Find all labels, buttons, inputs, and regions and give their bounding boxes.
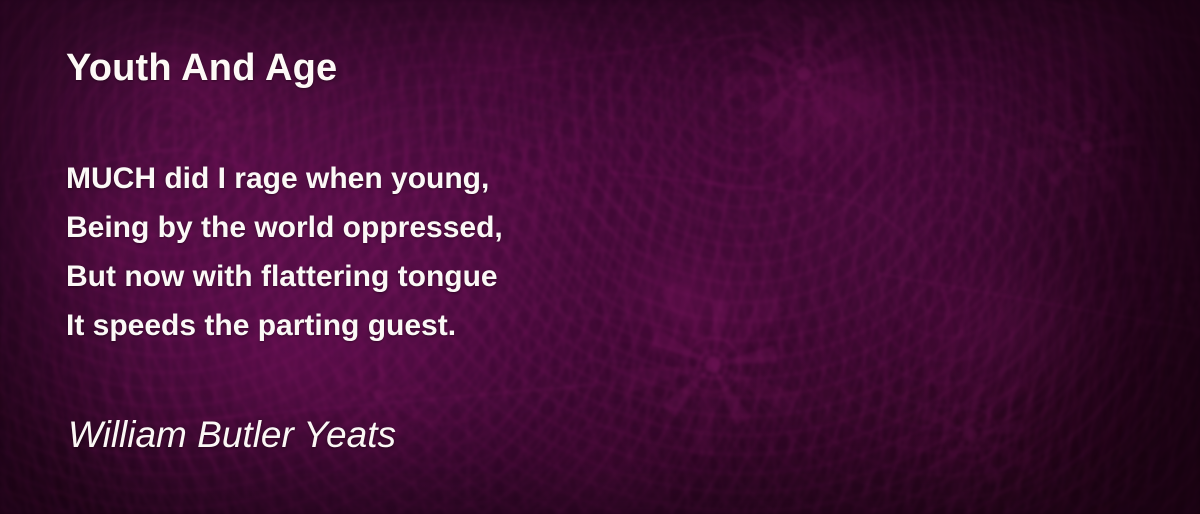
poem-author: William Butler Yeats bbox=[68, 414, 396, 456]
poem-line: It speeds the parting guest. bbox=[66, 301, 503, 350]
poem-line: Being by the world oppressed, bbox=[66, 203, 503, 252]
poem-line: But now with flattering tongue bbox=[66, 252, 503, 301]
poem-title: Youth And Age bbox=[66, 47, 337, 90]
poem-content: Youth And Age MUCH did I rage when young… bbox=[0, 0, 1200, 514]
poem-body: MUCH did I rage when young, Being by the… bbox=[66, 154, 503, 350]
poem-card: Youth And Age MUCH did I rage when young… bbox=[0, 0, 1200, 514]
poem-line: MUCH did I rage when young, bbox=[66, 154, 503, 203]
